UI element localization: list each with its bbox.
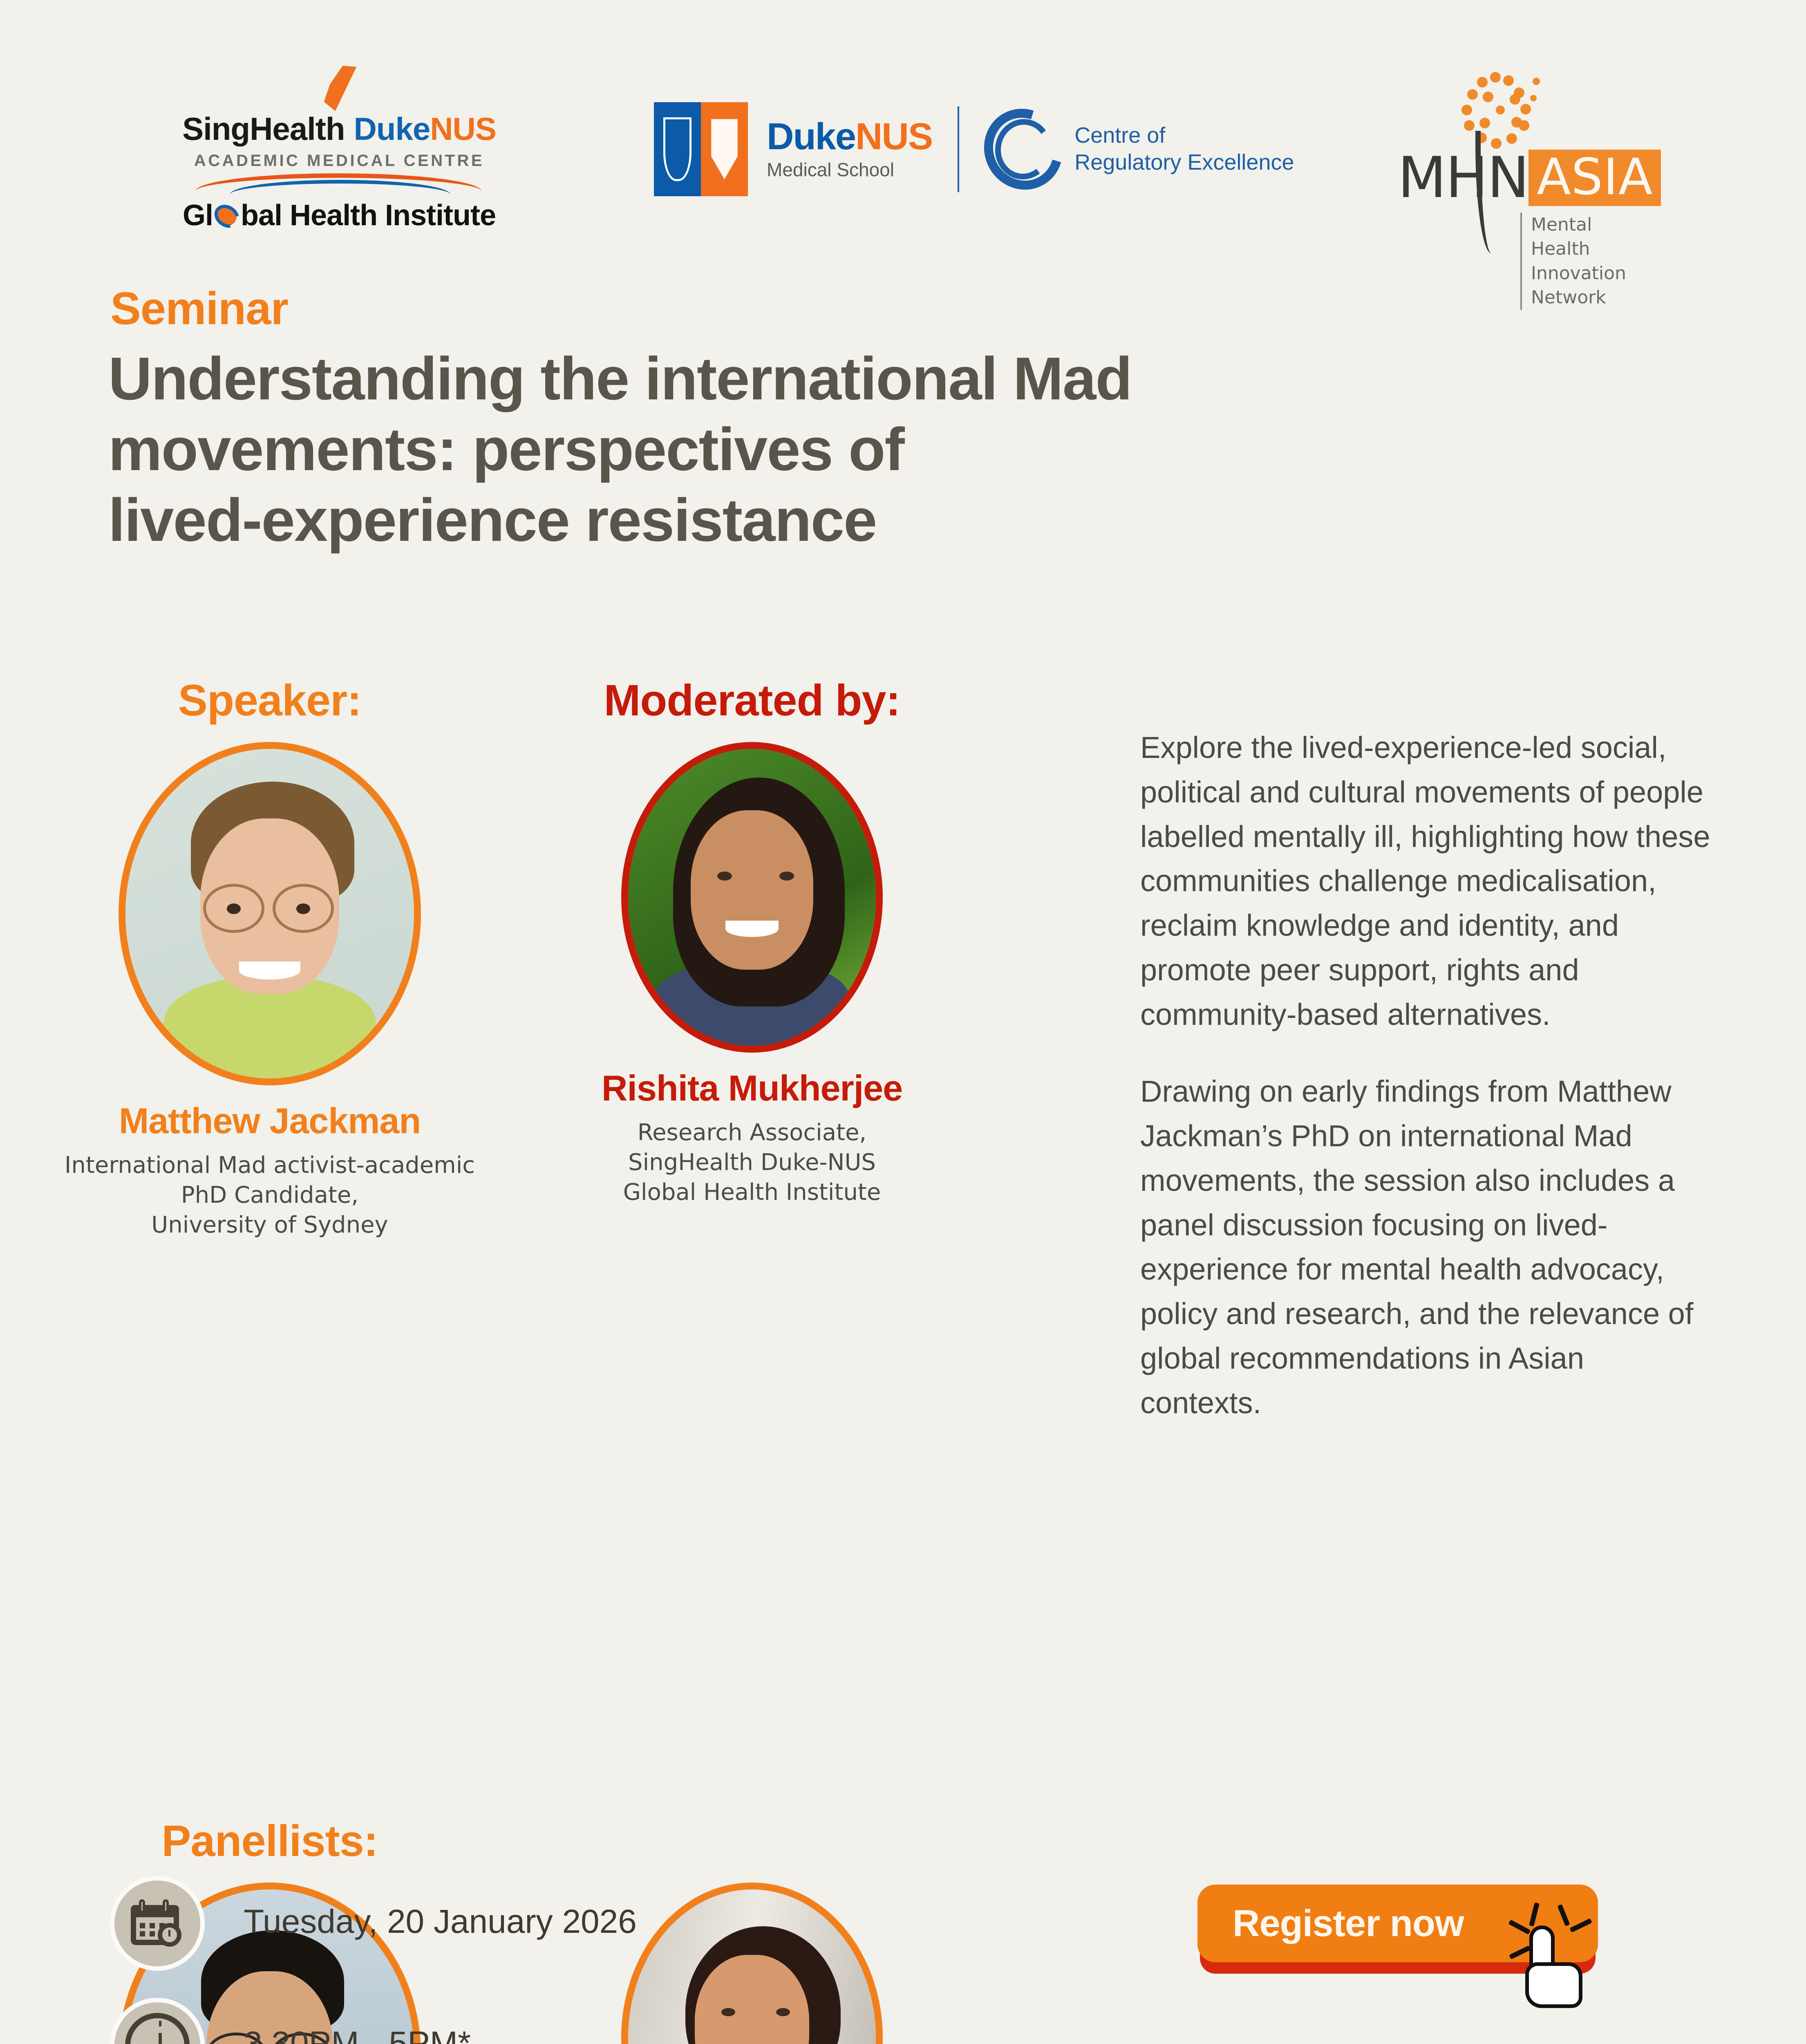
- singhealth-word: SingHealth: [182, 111, 345, 147]
- people-section: Speaker: Matthew Jackman: [0, 675, 1103, 1819]
- clock-icon: [114, 2002, 200, 2044]
- speaker-moderator-row: Speaker: Matthew Jackman: [0, 675, 1103, 1247]
- speaker-role-line1: International Mad activist-academic: [45, 1151, 495, 1181]
- moderator-role-line2: SingHealth Duke-NUS: [527, 1148, 977, 1178]
- core-swirl-icon: [985, 108, 1062, 190]
- moderator-role: Research Associate, SingHealth Duke-NUS …: [527, 1118, 977, 1207]
- core-line1: Centre of: [1074, 122, 1294, 149]
- speaker-name: Matthew Jackman: [45, 1100, 495, 1142]
- moderator-photo: [621, 742, 883, 1053]
- mhin-tagline-line2: Innovation Network: [1531, 261, 1651, 310]
- core-line2: Regulatory Excellence: [1074, 149, 1294, 176]
- singhealth-dukenus-ghi-logo: SingHealthDukeNUS ACADEMIC MEDICAL CENTR…: [135, 74, 544, 232]
- title-line-2: movements: perspectives of: [108, 414, 1682, 485]
- moderator-heading: Moderated by:: [527, 675, 977, 726]
- mhin-letters-tail: N: [1487, 150, 1528, 206]
- event-details: Tuesday, 20 January 2026 3.30PM - 5PM*: [114, 1880, 1136, 2044]
- description-paragraph-2: Drawing on early findings from Matthew J…: [1140, 1069, 1712, 1425]
- title-line-1: Understanding the international Mad: [108, 343, 1682, 414]
- mhin-tagline-line1: Mental Health: [1531, 213, 1651, 261]
- singhealth-arcs-icon: [135, 173, 544, 191]
- calendar-clock-icon: [114, 1880, 200, 1966]
- mhin-asia-badge: ASIA: [1528, 150, 1661, 206]
- global-health-institute-wordmark: Glbal Health Institute: [135, 199, 544, 232]
- moderator-name: Rishita Mukherjee: [527, 1067, 977, 1109]
- seminar-poster: SingHealthDukeNUS ACADEMIC MEDICAL CENTR…: [0, 0, 1806, 2044]
- title-line-3: lived-experience resistance: [108, 485, 1682, 556]
- seminar-kicker: Seminar: [110, 282, 288, 335]
- dukenus-nus: NUS: [855, 116, 932, 157]
- speaker-role: International Mad activist-academic PhD …: [45, 1151, 495, 1240]
- description-paragraph-1: Explore the lived-experience-led social,…: [1140, 726, 1712, 1037]
- mhin-letters: MH: [1398, 150, 1487, 206]
- register-cta[interactable]: Register now: [1197, 1885, 1598, 1962]
- dukenus-core-logo: DukeNUS Medical School Centre of Regulat…: [654, 102, 1294, 196]
- dukenus-subtitle: Medical School: [767, 159, 932, 181]
- core-wordmark: Centre of Regulatory Excellence: [1074, 122, 1294, 176]
- duke-word: Duke: [354, 111, 430, 147]
- dandelion-icon: [1458, 69, 1552, 151]
- detail-row-time: 3.30PM - 5PM*: [114, 2002, 1136, 2044]
- speaker-card: Speaker: Matthew Jackman: [45, 675, 495, 1240]
- event-date: Tuesday, 20 January 2026: [244, 1880, 637, 1944]
- core-logo: Centre of Regulatory Excellence: [985, 108, 1294, 190]
- panellists-row: Panellists: Mak Kean Loong: [0, 1247, 1103, 1819]
- pointing-hand-cursor-icon: [1508, 1901, 1594, 2003]
- speaker-heading: Speaker:: [45, 675, 495, 726]
- moderator-role-line3: Global Health Institute: [527, 1178, 977, 1208]
- mhin-wordmark: MH N ASIA: [1398, 150, 1661, 206]
- panellists-heading: Panellists:: [45, 1815, 495, 1866]
- detail-row-date: Tuesday, 20 January 2026: [114, 1880, 1136, 1966]
- ghi-prefix: Gl: [183, 199, 213, 232]
- globe-icon: [214, 203, 240, 229]
- academic-medical-centre-text: ACADEMIC MEDICAL CENTRE: [135, 152, 544, 170]
- event-time: 3.30PM - 5PM*: [244, 2002, 471, 2044]
- moderator-role-line1: Research Associate,: [527, 1118, 977, 1148]
- dukenus-wordmark: DukeNUS Medical School: [767, 118, 932, 181]
- dukenus-shield-icon: [654, 102, 748, 196]
- dukenus-duke: Duke: [767, 116, 855, 157]
- register-button-label: Register now: [1233, 1902, 1464, 1945]
- mhin-tagline: Mental Health Innovation Network: [1520, 213, 1651, 310]
- description-block: Explore the lived-experience-led social,…: [1140, 726, 1712, 1425]
- speaker-photo: [119, 742, 421, 1085]
- logo-bar: SingHealthDukeNUS ACADEMIC MEDICAL CENTR…: [0, 61, 1806, 253]
- logo-divider: [958, 106, 959, 192]
- nus-word: NUS: [430, 111, 496, 147]
- speaker-role-line2: PhD Candidate,: [45, 1181, 495, 1210]
- moderator-card: Moderated by: Rishita Mukherjee Research…: [527, 675, 977, 1207]
- ghi-suffix: bal Health Institute: [241, 199, 496, 232]
- speaker-role-line3: University of Sydney: [45, 1210, 495, 1240]
- page-title: Understanding the international Mad move…: [108, 343, 1682, 556]
